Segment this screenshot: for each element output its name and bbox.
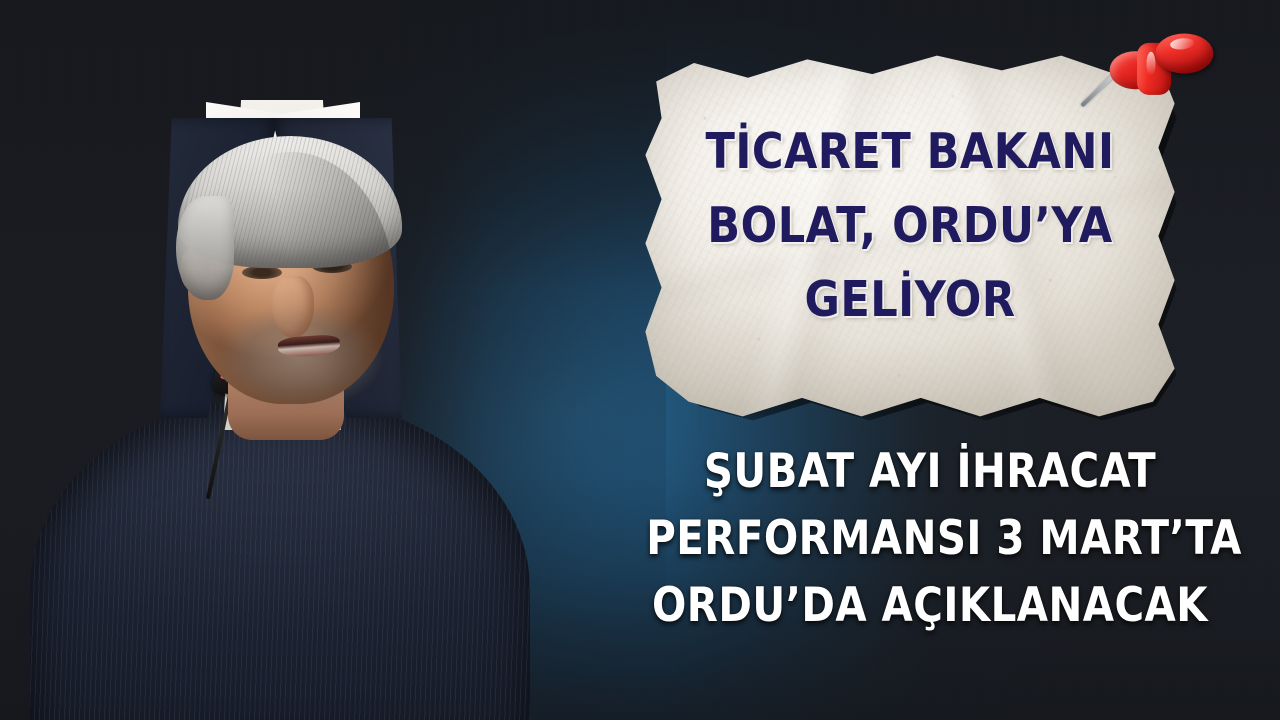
headline-line-1: TİCARET BAKANI	[694, 128, 1127, 176]
suit-pinstripe-texture	[30, 400, 530, 720]
subtitle-line-3: ORDU’DA AÇIKLANACAK	[646, 582, 1214, 629]
subtitle-line-2: PERFORMANSI 3 MART’TA	[646, 515, 1214, 562]
subtitle-line-1: ŞUBAT AYI İHRACAT	[646, 448, 1214, 495]
headline-line-3: GELİYOR	[694, 276, 1127, 324]
headline-block: TİCARET BAKANI BOLAT, ORDU’YA GELİYOR	[664, 128, 1156, 324]
news-thumbnail-card: TİCARET BAKANI BOLAT, ORDU’YA GELİYOR ŞU…	[0, 0, 1280, 720]
subtitle-block: ŞUBAT AYI İHRACAT PERFORMANSI 3 MART’TA …	[600, 448, 1260, 629]
suit-jacket	[30, 400, 530, 720]
portrait-photo	[10, 100, 530, 720]
pushpin-stem-highlight	[1146, 52, 1155, 76]
headline-line-2: BOLAT, ORDU’YA	[694, 202, 1127, 250]
